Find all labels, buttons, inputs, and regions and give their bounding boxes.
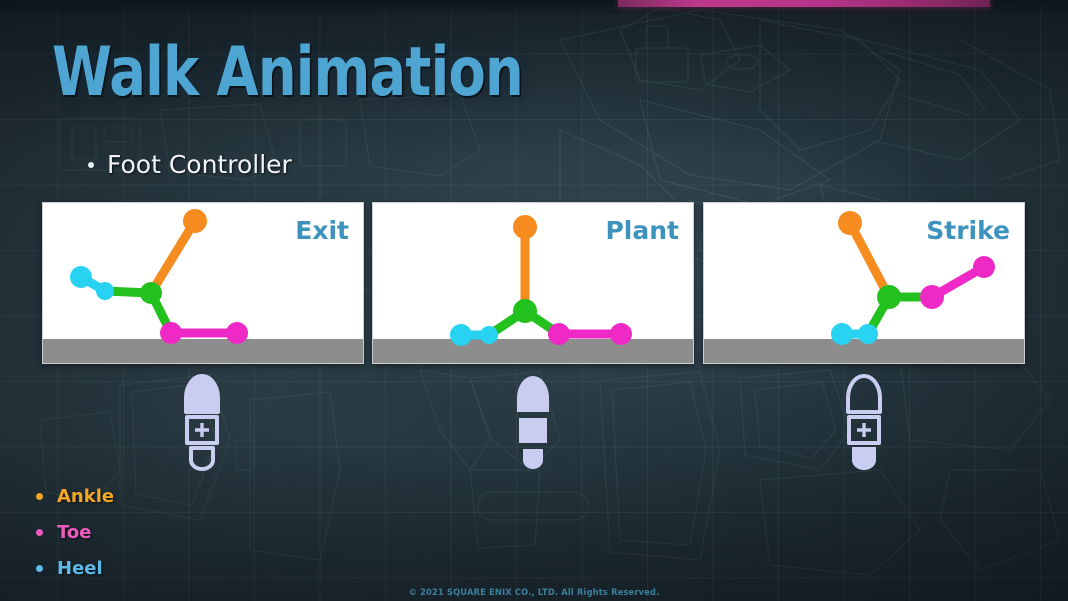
ankle-joint <box>513 215 537 239</box>
toe-root-joint <box>920 285 944 309</box>
footprint-plant-icon <box>503 368 563 474</box>
legend-dot-ankle <box>36 493 43 500</box>
legend-dot-heel <box>36 565 43 572</box>
bullet-foot-controller: Foot Controller <box>88 150 292 179</box>
toe-tip-joint <box>226 322 248 344</box>
panel-plant[interactable]: Plant <box>372 202 694 364</box>
legend: Ankle Toe Heel <box>36 478 114 586</box>
legend-item-heel: Heel <box>36 550 114 586</box>
panel-label-exit: Exit <box>295 216 349 245</box>
legend-label-ankle: Ankle <box>57 486 114 507</box>
toe-tip-joint <box>610 323 632 345</box>
toe-root-joint <box>548 323 570 345</box>
footprint-strike-icon <box>834 368 894 474</box>
heel-tip-joint <box>96 282 114 300</box>
panel-exit[interactable]: Exit <box>42 202 364 364</box>
heel-joint <box>70 266 92 288</box>
heel-tip-joint <box>858 324 878 344</box>
bullet-label: Foot Controller <box>107 150 292 179</box>
page-title: Walk Animation <box>52 38 523 108</box>
legend-label-heel: Heel <box>57 558 103 579</box>
top-accent-bar <box>618 0 990 7</box>
toe-tip-joint <box>973 256 995 278</box>
legend-label-toe: Toe <box>57 522 91 543</box>
legend-item-toe: Toe <box>36 514 114 550</box>
copyright-footer: © 2021 SQUARE ENIX CO., LTD. All Rights … <box>43 588 1026 598</box>
panel-strike[interactable]: Strike <box>703 202 1025 364</box>
toe-root-joint <box>160 322 182 344</box>
foot-root-joint <box>140 282 162 304</box>
heel-joint <box>450 324 472 346</box>
foot-root-joint <box>513 299 537 323</box>
heel-joint <box>831 323 853 345</box>
footprint-exit-icon <box>172 368 232 474</box>
panel-label-strike: Strike <box>926 216 1010 245</box>
heel-tip-joint <box>480 326 498 344</box>
ankle-joint <box>183 209 207 233</box>
foot-root-joint <box>877 285 901 309</box>
ankle-joint <box>838 211 862 235</box>
bullet-dot-icon <box>88 162 94 168</box>
panel-label-plant: Plant <box>605 216 679 245</box>
legend-dot-toe <box>36 529 43 536</box>
slide-canvas: Walk Animation Foot Controller <box>0 0 1068 601</box>
legend-item-ankle: Ankle <box>36 478 114 514</box>
